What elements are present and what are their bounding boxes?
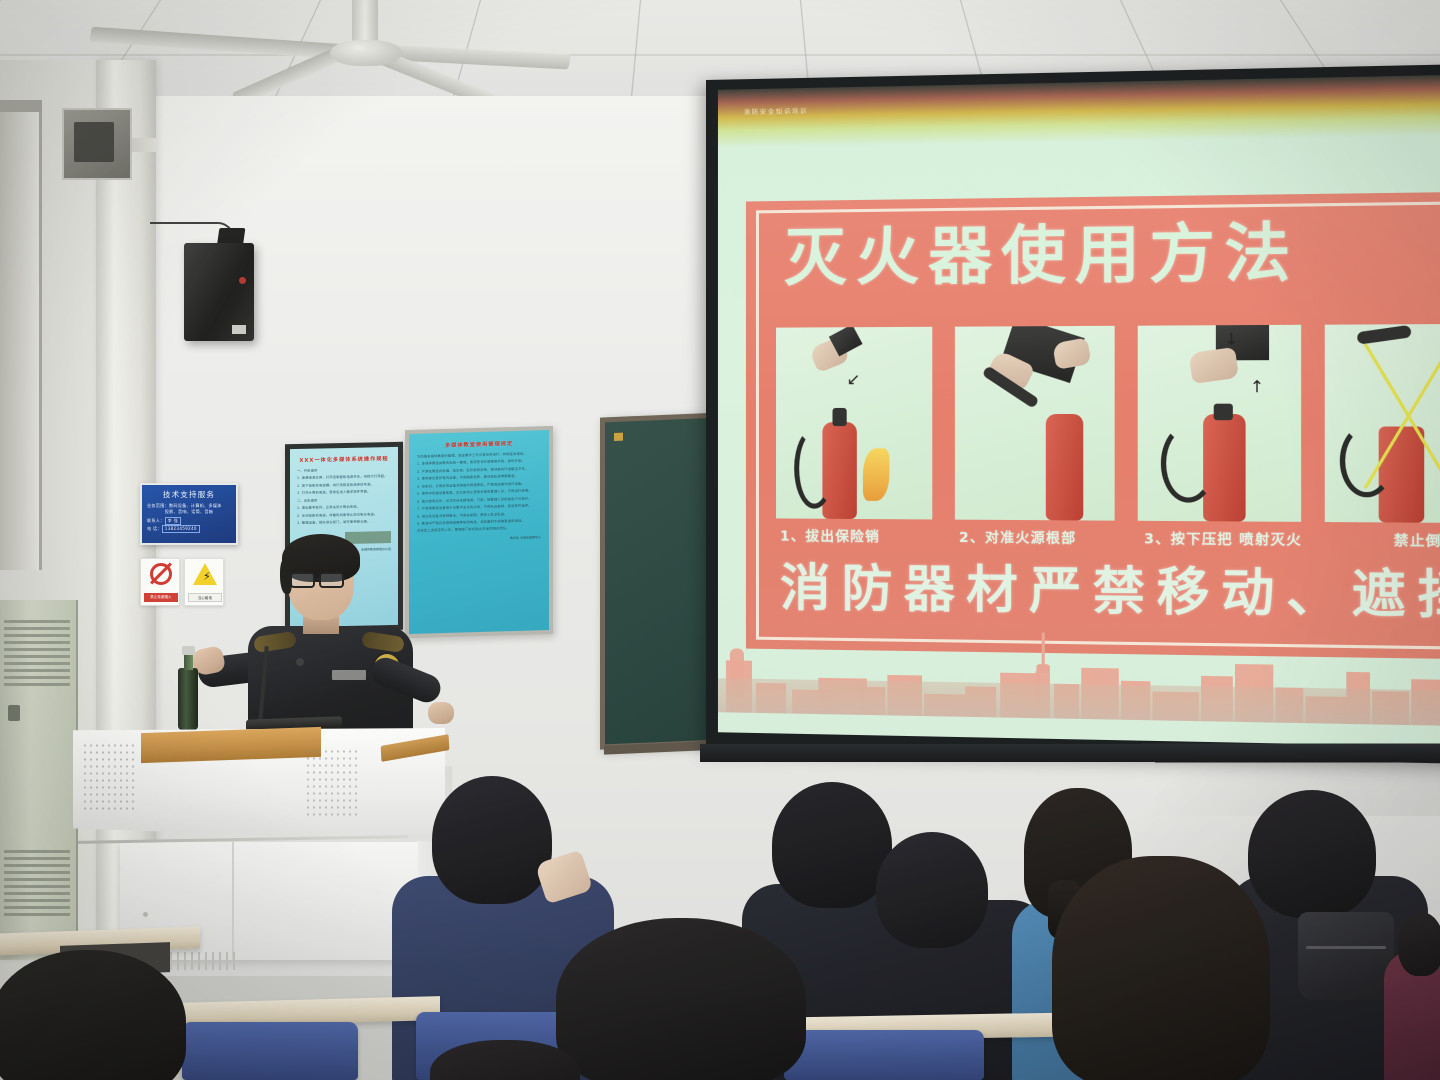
slide-subtitle: 消防器材严禁移动、遮挡 (780, 563, 1440, 622)
chair-back (784, 1030, 984, 1080)
step-1-image: ↙ (776, 327, 932, 520)
attendee-7-head (876, 832, 988, 948)
chair-back (182, 1022, 358, 1080)
step-4-image (1325, 324, 1440, 523)
ac-vent (74, 122, 114, 162)
attendee-front-center-head (556, 918, 806, 1080)
step-3-caption: 3、按下压把 喷射灭火 (1144, 527, 1302, 549)
speaker-label (232, 325, 246, 334)
projection-screen-frame: 消防安全知识培训 灭火器使用方法 ↙ (706, 64, 1440, 764)
no-fire-caption: 禁止吸烟烟火 (144, 593, 178, 602)
slide-step-images: ↙ (776, 324, 1440, 524)
presenter-chest-tag (332, 670, 366, 680)
step-1-caption: 1、拔出保险销 (780, 525, 880, 546)
door-frame (0, 100, 42, 570)
attendee-8-head (1248, 790, 1376, 918)
presenter-button (296, 658, 304, 666)
sign-contact-name: 李 强 (165, 517, 181, 525)
glasses-bridge-icon (314, 578, 321, 580)
step-4-caption: 禁止倒立使用 (1394, 529, 1440, 551)
step-3-image: ↓ ↑ (1138, 325, 1301, 522)
poster-right-title: 多媒体教室使用管理规定 (417, 439, 541, 449)
attendee-5-head (432, 776, 552, 904)
skyline-haze (718, 678, 1440, 726)
glasses-icon (290, 572, 315, 588)
step-2-image (955, 326, 1115, 521)
slide-red-panel: 灭火器使用方法 ↙ (746, 191, 1440, 660)
slide-top-strip-text: 消防安全知识培训 (744, 106, 808, 116)
city-skyline-graphic (718, 624, 1440, 726)
locker-handle[interactable] (8, 705, 20, 721)
poster-left-title: XXX一体化多媒体系统操作规程 (297, 455, 391, 464)
slide-title: 灭火器使用方法 (784, 219, 1440, 290)
poster-left-body: 一、开机顺序 1. 接通电源总闸，打开控制面板电源开关，待指示灯亮起。 2. 按… (297, 467, 391, 526)
water-bottle[interactable] (178, 668, 198, 730)
sign-phone-label: 电 话： (147, 526, 162, 531)
podium-wood-top (141, 727, 321, 763)
screen-bottom-rail (700, 744, 1440, 763)
classroom-photo: 技术支持服务 业务范围：数码设备、计算机、多媒体 投影、音响、话筒、音箱 联系人… (0, 0, 1440, 1080)
air-conditioner-box (62, 108, 132, 180)
attendee-6-head (772, 782, 892, 908)
projection-screen: 消防安全知识培训 灭火器使用方法 ↙ (718, 74, 1440, 747)
chalkboard-marker (614, 433, 623, 441)
projector-glare (718, 74, 1440, 147)
presenter-right-hand (428, 702, 454, 724)
ceiling-fan-hub (330, 40, 402, 66)
glasses-icon (319, 572, 344, 588)
podium-vent (170, 952, 238, 970)
speaker-led-icon (239, 277, 246, 284)
no-fire-sticker: 禁止吸烟烟火 (140, 558, 180, 606)
attendee-edge-head (1398, 912, 1440, 976)
podium-speaker-grille (82, 742, 134, 814)
step-2-caption: 2、对准火源根部 (959, 526, 1077, 547)
sign-contact-label: 联系人： (147, 518, 165, 523)
wall-speaker (184, 243, 254, 341)
door-frame-header (0, 100, 42, 112)
bag-zipper (1306, 946, 1386, 949)
sign-scope-line-2: 投影、音响、话筒、音箱 (147, 509, 231, 515)
podium-screw (143, 912, 148, 917)
podium-base-seam (232, 842, 234, 960)
black-shoulder-bag (1298, 912, 1394, 1000)
attendee-front-right-head (1052, 856, 1270, 1080)
metal-locker[interactable] (0, 600, 78, 960)
podium-speaker-grille (305, 748, 357, 820)
poster-right-body: 为加强多媒体教室的管理，保证教学工作正常有序进行，特制定本规定。 1. 多媒体教… (417, 451, 541, 534)
bottle-cap (182, 646, 195, 655)
sign-title: 技术支持服务 (147, 489, 231, 500)
